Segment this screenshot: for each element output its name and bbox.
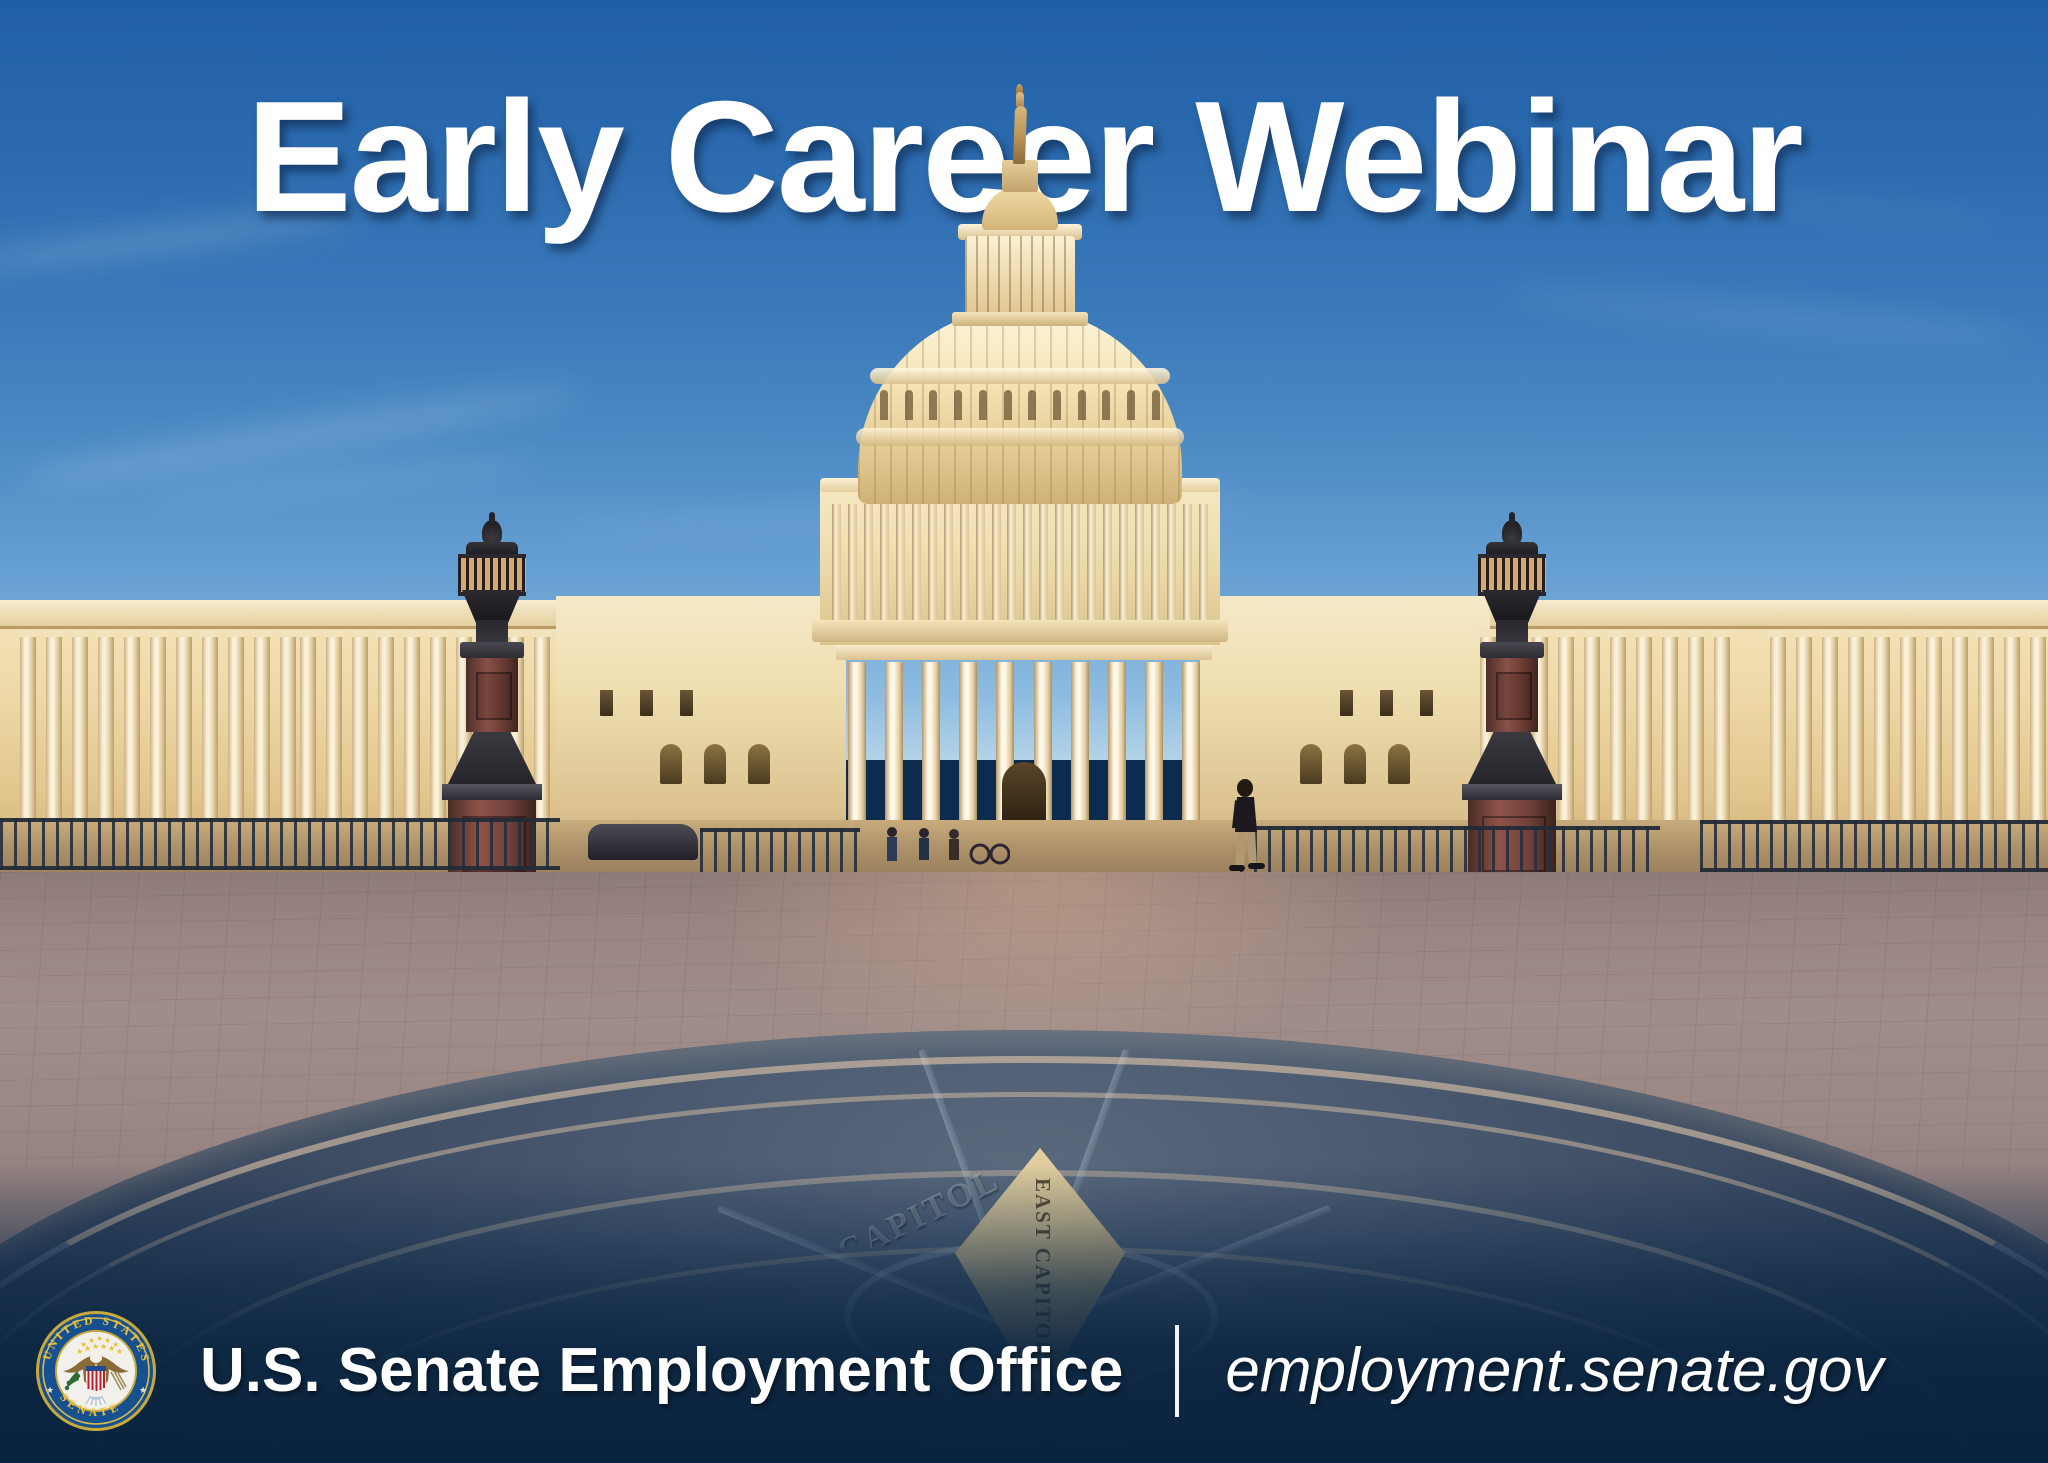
security-barricade (1240, 826, 1660, 878)
dome-drum-columns (832, 504, 1208, 622)
wing-window (660, 744, 682, 784)
dome-base-band (812, 620, 1228, 642)
svg-text:★: ★ (46, 1385, 54, 1395)
people-on-steps (880, 824, 1010, 874)
colonnade-right-b (1770, 636, 2048, 824)
footer-branding-row: UNITED STATES SENATE ★ ★ ★ ★ ★ ★ ★ ★ ★ (0, 1278, 2048, 1463)
svg-text:★: ★ (139, 1385, 147, 1395)
website-url-label[interactable]: employment.senate.gov (1225, 1335, 1883, 1406)
svg-text:★: ★ (76, 1347, 83, 1356)
dome-upper-ring (870, 368, 1170, 384)
wing-window (1420, 690, 1433, 716)
footer-divider (1175, 1325, 1179, 1417)
security-barricade (0, 818, 560, 870)
wing-attic-left (0, 600, 640, 629)
wing-window (704, 744, 726, 784)
svg-text:★: ★ (108, 1344, 115, 1353)
wing-window (680, 690, 693, 716)
svg-text:★: ★ (84, 1344, 91, 1353)
parked-vehicle (588, 824, 698, 860)
wing-window (600, 690, 613, 716)
colonnade-left-a (20, 636, 296, 824)
wing-window (1344, 744, 1366, 784)
pedestrian-figure (1224, 778, 1268, 874)
wing-window (748, 744, 770, 784)
svg-text:★: ★ (100, 1342, 107, 1351)
wing-window (1388, 744, 1410, 784)
office-name-label: U.S. Senate Employment Office (200, 1335, 1123, 1406)
dome-ring (856, 428, 1184, 446)
security-barricade (1700, 820, 2048, 872)
wing-window (1340, 690, 1353, 716)
svg-text:★: ★ (92, 1342, 99, 1351)
wing-window (1300, 744, 1322, 784)
webinar-promo-poster: Early Career Webinar UNITED STATES CAPIT… (0, 0, 2048, 1463)
capitol-east-door (1002, 762, 1046, 824)
page-title: Early Career Webinar (0, 78, 2048, 236)
wing-window (1380, 690, 1393, 716)
svg-text:★: ★ (116, 1347, 123, 1356)
dome-dormer-windows (880, 390, 1160, 424)
wing-window (640, 690, 653, 716)
us-senate-seal-icon: UNITED STATES SENATE ★ ★ ★ ★ ★ ★ ★ ★ ★ (34, 1309, 158, 1433)
